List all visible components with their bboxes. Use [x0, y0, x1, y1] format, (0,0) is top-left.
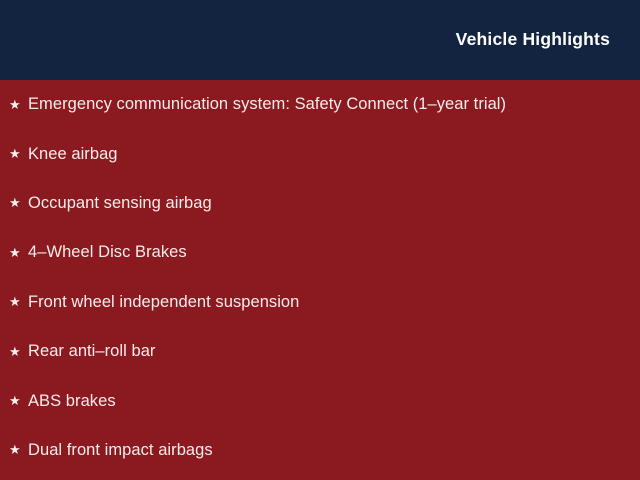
- list-item-label: Occupant sensing airbag: [28, 194, 212, 213]
- star-icon: ★: [9, 98, 28, 111]
- list-item: ★ Knee airbag: [0, 129, 640, 178]
- star-icon: ★: [9, 394, 28, 407]
- list-item-label: Emergency communication system: Safety C…: [28, 95, 506, 114]
- list-item: ★ Emergency communication system: Safety…: [0, 80, 640, 129]
- star-icon: ★: [9, 196, 28, 209]
- page-title: Vehicle Highlights: [456, 31, 610, 49]
- list-item: ★ Dual front impact airbags: [0, 426, 640, 475]
- star-icon: ★: [9, 295, 28, 308]
- list-item: ★ ABS brakes: [0, 376, 640, 425]
- vehicle-highlights-list: ★ Emergency communication system: Safety…: [0, 80, 640, 475]
- star-icon: ★: [9, 443, 28, 456]
- vehicle-highlights-slide: Vehicle Highlights ★ Emergency communica…: [0, 0, 640, 480]
- list-item-label: Front wheel independent suspension: [28, 293, 299, 312]
- list-item: ★ Rear anti–roll bar: [0, 327, 640, 376]
- star-icon: ★: [9, 345, 28, 358]
- star-icon: ★: [9, 246, 28, 259]
- list-item-label: Dual front impact airbags: [28, 441, 213, 460]
- list-item-label: Rear anti–roll bar: [28, 342, 155, 361]
- list-item: ★ Occupant sensing airbag: [0, 179, 640, 228]
- list-item-label: Knee airbag: [28, 145, 118, 164]
- slide-header: Vehicle Highlights: [0, 0, 640, 80]
- list-item-label: 4–Wheel Disc Brakes: [28, 243, 187, 262]
- list-item: ★ 4–Wheel Disc Brakes: [0, 228, 640, 277]
- list-item: ★ Front wheel independent suspension: [0, 278, 640, 327]
- slide-body: ★ Emergency communication system: Safety…: [0, 80, 640, 480]
- star-icon: ★: [9, 147, 28, 160]
- list-item-label: ABS brakes: [28, 392, 116, 411]
